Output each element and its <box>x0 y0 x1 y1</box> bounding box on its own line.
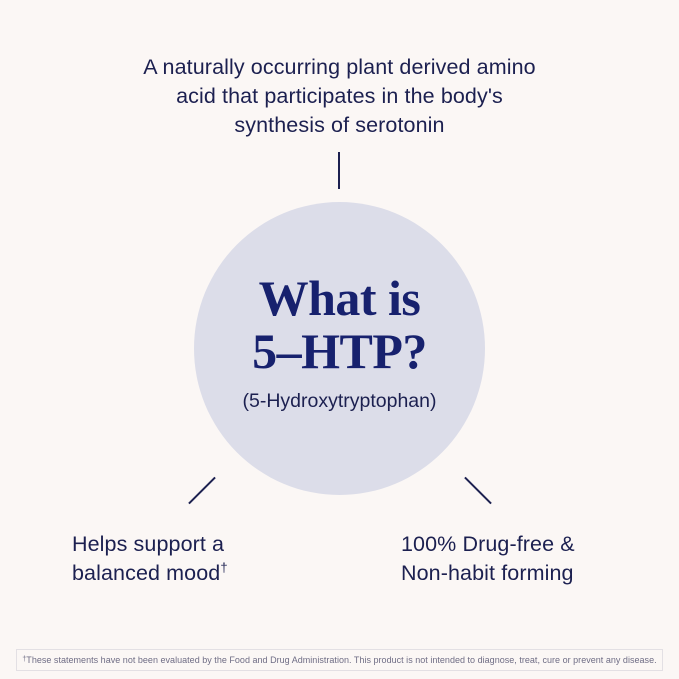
benefit-balanced-mood-line-2: balanced mood† <box>72 559 228 588</box>
top-description-line-1: A naturally occurring plant derived amin… <box>0 53 679 82</box>
fda-disclaimer: †These statements have not been evaluate… <box>16 649 663 671</box>
connector-line-vertical <box>338 152 340 189</box>
benefit-drug-free-line-2: Non-habit forming <box>401 559 575 588</box>
page-subtitle: (5-Hydroxytryptophan) <box>243 389 437 413</box>
connector-line-diagonal-right <box>464 477 492 505</box>
benefit-balanced-mood-text: balanced mood <box>72 561 220 585</box>
disclaimer-text: These statements have not been evaluated… <box>26 654 656 666</box>
page-title: What is 5–HTP? <box>252 272 427 378</box>
benefit-balanced-mood: Helps support a balanced mood† <box>72 530 228 588</box>
benefit-drug-free: 100% Drug-free & Non-habit forming <box>401 530 575 588</box>
central-circle: What is 5–HTP? (5-Hydroxytryptophan) <box>194 202 485 495</box>
footnote-marker: † <box>220 560 227 575</box>
top-description-line-2: acid that participates in the body's <box>0 82 679 111</box>
top-description: A naturally occurring plant derived amin… <box>0 53 679 140</box>
page-title-line-2: 5–HTP? <box>252 325 427 378</box>
top-description-line-3: synthesis of serotonin <box>0 111 679 140</box>
benefit-balanced-mood-line-1: Helps support a <box>72 530 228 559</box>
benefit-drug-free-line-1: 100% Drug-free & <box>401 530 575 559</box>
page-title-line-1: What is <box>252 272 427 325</box>
infographic-canvas: A naturally occurring plant derived amin… <box>0 0 679 679</box>
connector-line-diagonal-left <box>188 477 216 505</box>
